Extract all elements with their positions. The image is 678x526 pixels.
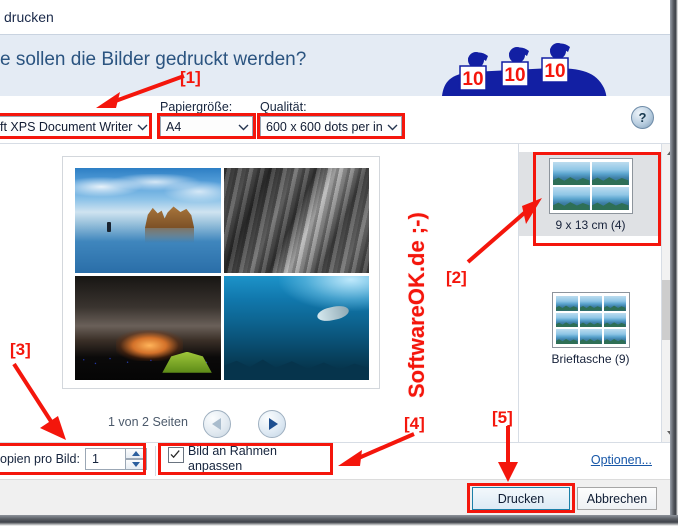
right-arrow-icon [269, 418, 278, 430]
annotation-marker-3: [3] [10, 340, 31, 360]
layout-list[interactable]: 9 x 13 cm (4) Brieftasche (9) [518, 144, 661, 442]
layout-label-brieftasche: Brieftasche (9) [551, 352, 629, 366]
prev-page-button[interactable] [203, 410, 231, 438]
paper-size-label: Papiergröße: [160, 100, 232, 114]
preview-photo-grid [75, 168, 369, 380]
header-band: e sollen die Bilder gedruckt werden? [0, 34, 670, 96]
underwater-swimmer-photo [224, 276, 370, 381]
chevron-down-icon [133, 117, 151, 137]
quality-value: 600 x 600 dots per inch [266, 120, 383, 134]
fit-to-frame-label: Bild an Rahmen anpassen [188, 444, 323, 474]
annotation-marker-4: [4] [404, 414, 425, 434]
watermark: SoftwareOK.de ;-) [404, 212, 430, 398]
annotation-marker-2: [2] [446, 268, 467, 288]
layout-label-9x13: 9 x 13 cm (4) [555, 218, 625, 232]
fit-to-frame-checkbox[interactable] [168, 447, 184, 463]
printer-select-value: ft XPS Document Writer [0, 120, 133, 134]
copies-increment-button[interactable] [125, 448, 147, 459]
divider [155, 446, 156, 476]
cancel-button[interactable]: Abbrechen [577, 487, 657, 510]
annotation-marker-1: [1] [180, 68, 201, 88]
printer-select[interactable]: ft XPS Document Writer [0, 116, 152, 138]
chevron-down-icon [383, 117, 401, 137]
page-indicator: 1 von 2 Seiten [108, 415, 188, 429]
copies-label: opien pro Bild: [0, 452, 80, 466]
rock-face-bw-photo [224, 168, 370, 273]
window-edge [670, 0, 678, 515]
print-options-row: opien pro Bild: 1 Bild an Rahmen anpasse… [0, 442, 670, 479]
quality-select[interactable]: 600 x 600 dots per inch [260, 116, 402, 138]
help-icon[interactable]: ? [631, 106, 654, 129]
copies-stepper[interactable] [126, 448, 147, 470]
help-glyph: ? [639, 110, 647, 125]
copies-decrement-button[interactable] [125, 459, 147, 470]
checkmark-icon [169, 448, 181, 460]
window-title: drucken [4, 9, 54, 25]
options-link[interactable]: Optionen... [591, 453, 652, 467]
title-bar: drucken [0, 0, 670, 34]
layout-option-9x13[interactable]: 9 x 13 cm (4) [519, 152, 662, 236]
chevron-up-icon [132, 451, 140, 456]
preview-nav-row: 1 von 2 Seiten [0, 406, 518, 442]
paper-size-value: A4 [166, 120, 234, 134]
copies-value: 1 [92, 452, 99, 466]
print-pictures-dialog: drucken e sollen die Bilder gedruckt wer… [0, 0, 678, 526]
chevron-down-icon [234, 117, 252, 137]
preview-page [62, 156, 380, 389]
chevron-down-icon [132, 462, 140, 467]
page-title: e sollen die Bilder gedruckt werden? [0, 49, 306, 71]
window-bottom-edge [0, 515, 678, 526]
dialog-button-bar: Drucken Abbrechen [0, 479, 670, 515]
paper-size-select[interactable]: A4 [160, 116, 253, 138]
quality-label: Qualität: [260, 100, 307, 114]
left-arrow-icon [212, 418, 221, 430]
print-button[interactable]: Drucken [472, 487, 570, 510]
next-page-button[interactable] [258, 410, 286, 438]
print-settings-toolbar: Papiergröße: Qualität: ft XPS Document W… [0, 96, 670, 144]
annotation-marker-5: [5] [492, 408, 513, 428]
layout-option-brieftasche[interactable]: Brieftasche (9) [519, 292, 662, 376]
campfire-tent-night-photo [75, 276, 221, 381]
layout-thumb-9x13 [549, 158, 633, 214]
print-preview-pane [0, 144, 518, 406]
beach-rocks-photo [75, 168, 221, 273]
layout-thumb-brieftasche [552, 292, 630, 348]
